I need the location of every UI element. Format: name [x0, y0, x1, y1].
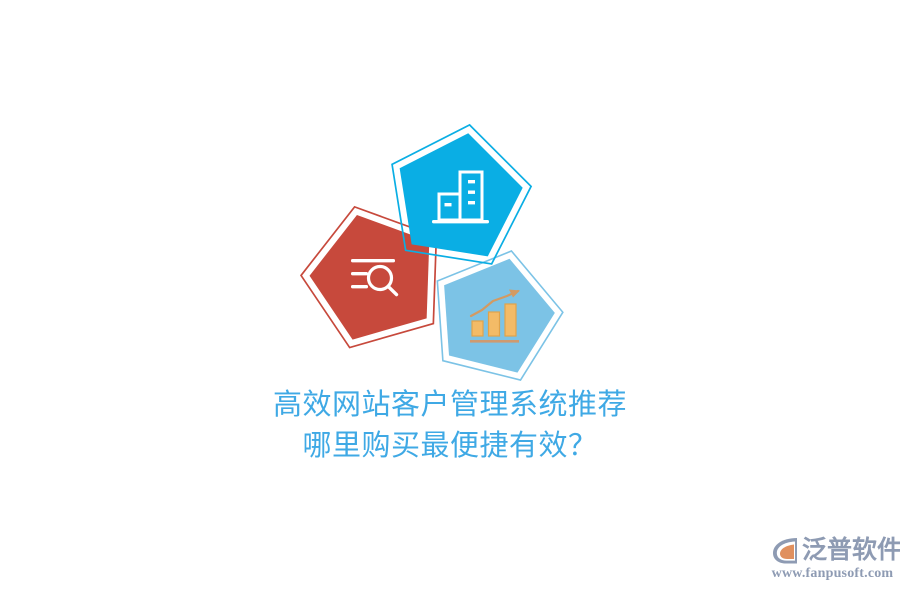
brand-url: www.fanpusoft.com	[770, 566, 895, 582]
page-canvas: 高效网站客户管理系统推荐 哪里购买最便捷有效？ 泛普软件 www.fanpuso…	[0, 0, 900, 600]
pentagon-tile-analytics[interactable]	[419, 235, 574, 386]
brand-name: 泛普软件	[802, 535, 900, 565]
pentagon-icon-cluster	[290, 115, 580, 370]
headline-line-1: 高效网站客户管理系统推荐	[0, 384, 900, 424]
headline: 高效网站客户管理系统推荐 哪里购买最便捷有效？	[0, 384, 900, 465]
brand-row: 泛普软件	[770, 533, 895, 567]
fanpu-logo-icon	[770, 535, 800, 565]
brand-watermark: 泛普软件 www.fanpusoft.com	[770, 533, 895, 589]
headline-line-2: 哪里购买最便捷有效？	[0, 425, 900, 465]
